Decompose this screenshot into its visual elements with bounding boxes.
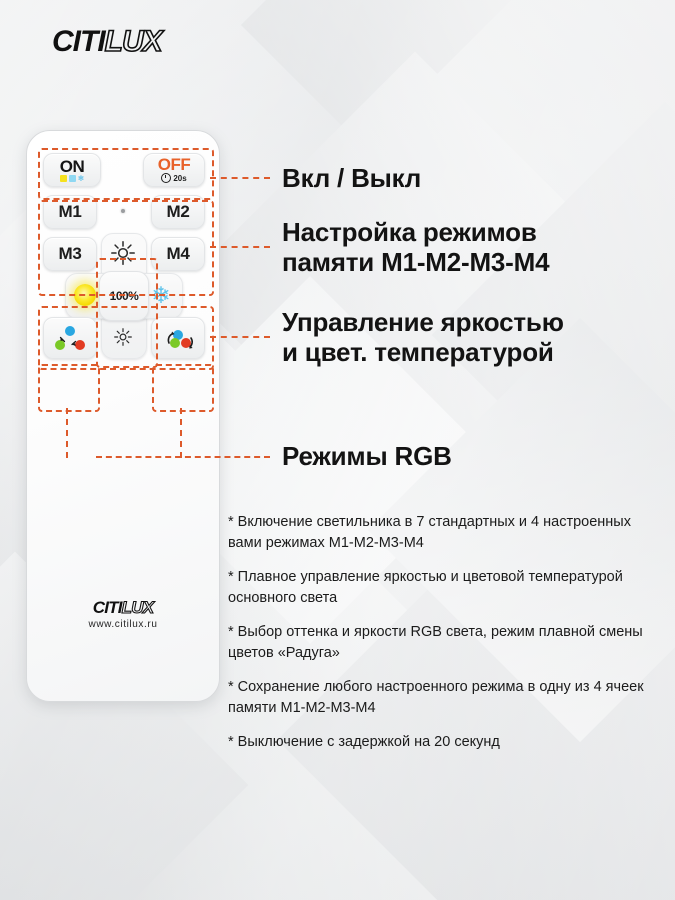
power-on-button[interactable]: ON ❄ [43,153,101,187]
remote-brand-url: www.citilux.ru [27,619,219,630]
power-off-timer: 20s [161,173,186,183]
power-off-button[interactable]: OFF 20s [143,153,205,187]
annotation-label-onoff-line1: Вкл / Выкл [282,163,421,193]
annotation-label-rgb-line1: Режимы RGB [282,441,452,471]
cyan-square-icon [69,175,76,182]
annotation-label-memory-line1: Настройка режимов [282,217,549,247]
memory-button-m1-label: M1 [58,202,81,222]
feature-note: * Плавное управление яркостью и цветовой… [228,567,660,609]
rgb-color-select-icon [51,323,89,353]
feature-note: * Включение светильника в 7 стандартных … [228,512,660,554]
annotation-label-rgb: Режимы RGB [282,441,452,471]
led-indicator-icon [121,209,125,213]
leader-line-rgb-left [66,408,68,458]
annotation-label-dimming-line2: и цвет. температурой [282,337,564,367]
leader-line-dimming [210,336,270,338]
clock-icon [161,173,171,183]
rgb-rainbow-cycle-icon [159,323,197,353]
annotation-label-dimming: Управление яркостью и цвет. температурой [282,307,564,367]
remote-footer-brand: CITILUX www.citilux.ru [27,599,219,630]
leader-line-rgb [96,456,270,458]
remote-brand-solid: CITI [93,598,122,617]
small-sun-icon [112,326,134,348]
sun-rays-icon [110,240,136,266]
leader-line-rgb-right [180,408,182,458]
brightness-percent-button[interactable]: 100% [99,271,149,321]
feature-note: * Сохранение любого настроенного режима … [228,677,660,719]
rgb-color-select-button[interactable] [43,317,97,359]
annotation-label-memory: Настройка режимов памяти M1-M2-M3-M4 [282,217,549,277]
brightness-up-button[interactable] [101,233,145,273]
remote-control-body: ON ❄ OFF 20s M1 M2 [26,130,220,702]
brand-logo-outline: LUX [105,25,162,58]
brand-logo: CITILUX [52,27,162,57]
rgb-rainbow-button[interactable] [151,317,205,359]
glowing-sun-icon [74,284,96,306]
memory-button-m2-label: M2 [166,202,189,222]
power-off-label: OFF [158,157,191,172]
memory-button-m2[interactable]: M2 [151,195,205,229]
brightness-down-button[interactable] [101,317,145,357]
brand-logo-solid: CITI [52,25,105,58]
brightness-percent-label: 100% [110,289,139,303]
yellow-square-icon [60,175,67,182]
power-on-label: ON [60,159,85,174]
feature-note: * Выключение с задержкой на 20 секунд [228,732,660,753]
snowflake-icon: ❄ [151,284,170,307]
feature-note: * Выбор оттенка и яркости RGB света, реж… [228,622,660,664]
remote-brand-logo: CITILUX [27,599,219,616]
poster-root: CITILUX ON ❄ OFF 20s [0,0,675,900]
power-off-timer-label: 20s [173,174,186,183]
snowflake-icon: ❄ [78,175,85,182]
leader-line-onoff [210,177,270,179]
remote-brand-outline: LUX [122,598,154,617]
annotation-label-memory-line2: памяти M1-M2-M3-M4 [282,247,549,277]
annotation-label-dimming-line1: Управление яркостью [282,307,564,337]
memory-button-m1[interactable]: M1 [43,195,97,229]
annotation-label-onoff: Вкл / Выкл [282,163,421,193]
power-on-icons: ❄ [60,175,85,182]
leader-line-memory [210,246,270,248]
feature-notes-list: * Включение светильника в 7 стандартных … [228,512,660,753]
